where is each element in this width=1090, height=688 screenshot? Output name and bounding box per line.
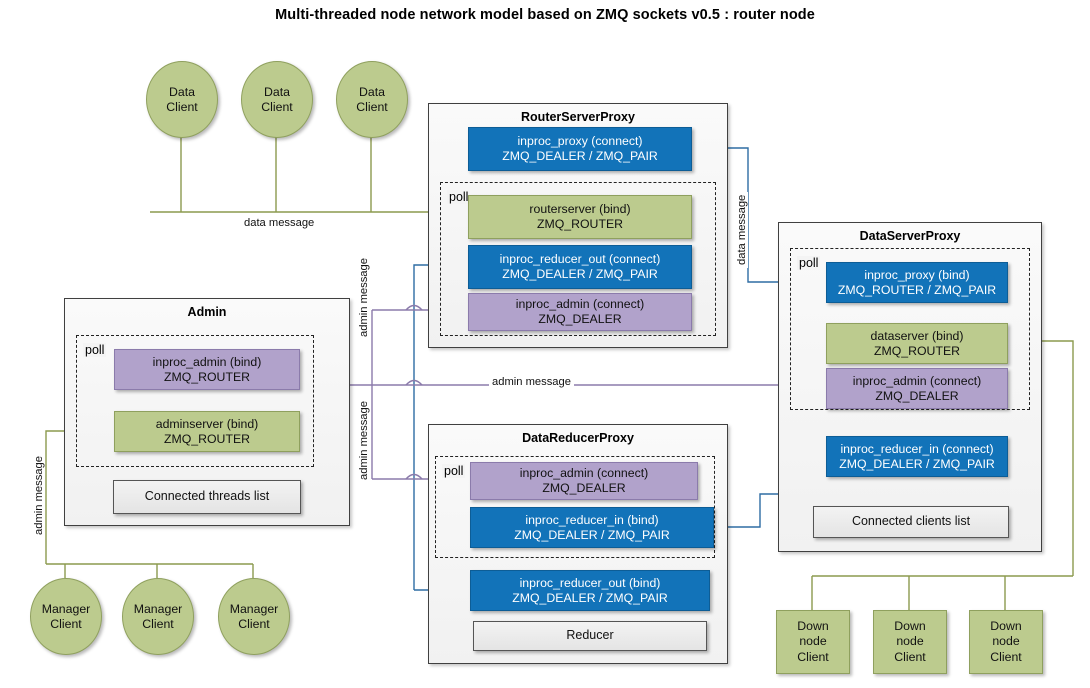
socket-rsp-inproc-admin[interactable]: inproc_admin (connect) ZMQ_DEALER	[468, 293, 692, 331]
socket-line1: inproc_reducer_out (connect)	[500, 252, 661, 267]
listbox-reducer[interactable]: Reducer	[473, 621, 707, 651]
diagram-canvas: Multi-threaded node network model based …	[0, 0, 1090, 688]
socket-admin-adminserver[interactable]: adminserver (bind) ZMQ_ROUTER	[114, 411, 300, 452]
socket-line1: inproc_admin (bind)	[153, 355, 262, 370]
node-label-line2: Client	[50, 617, 81, 632]
listbox-label: Reducer	[566, 628, 613, 643]
socket-line1: inproc_proxy (bind)	[864, 268, 969, 283]
listbox-connected-threads-list[interactable]: Connected threads list	[113, 480, 301, 514]
listbox-connected-clients-list[interactable]: Connected clients list	[813, 506, 1009, 538]
edge-label-admin-message-upper: admin message	[358, 255, 370, 340]
node-label-line2: Client	[142, 617, 173, 632]
node-label-line1: Manager	[134, 602, 183, 617]
listbox-label: Connected threads list	[145, 489, 269, 504]
node-label-line3: Client	[990, 650, 1021, 665]
node-label-line1: Manager	[230, 602, 279, 617]
socket-line2: ZMQ_DEALER / ZMQ_PAIR	[512, 591, 668, 606]
socket-line1: inproc_reducer_in (connect)	[840, 442, 993, 457]
socket-line1: inproc_proxy (connect)	[517, 134, 642, 149]
node-label-line3: Client	[797, 650, 828, 665]
node-label-line1: Data	[169, 85, 195, 100]
node-data-client-3[interactable]: Data Client	[336, 61, 408, 138]
node-label-line2: Client	[166, 100, 197, 115]
page-title: Multi-threaded node network model based …	[0, 7, 1090, 23]
node-label-line2: Client	[356, 100, 387, 115]
container-title-admin: Admin	[65, 305, 349, 319]
socket-dsp-inproc-reducer-in[interactable]: inproc_reducer_in (connect) ZMQ_DEALER /…	[826, 436, 1008, 477]
node-label-line2: node	[799, 634, 826, 649]
socket-line1: inproc_admin (connect)	[516, 297, 645, 312]
socket-line2: ZMQ_ROUTER	[164, 432, 250, 447]
socket-line1: dataserver (bind)	[871, 329, 964, 344]
socket-line2: ZMQ_ROUTER	[537, 217, 623, 232]
listbox-label: Connected clients list	[852, 514, 970, 529]
edge-label-data-message-clients: data message	[241, 217, 317, 229]
poll-label-admin: poll	[83, 343, 106, 357]
edge-label-admin-message-center: admin message	[489, 376, 574, 388]
socket-dsp-inproc-admin[interactable]: inproc_admin (connect) ZMQ_DEALER	[826, 368, 1008, 409]
node-label-line1: Down	[990, 619, 1021, 634]
container-title-data-server-proxy: DataServerProxy	[779, 229, 1041, 243]
node-label-line1: Data	[264, 85, 290, 100]
node-down-node-client-2[interactable]: Down node Client	[873, 610, 947, 674]
socket-line2: ZMQ_DEALER / ZMQ_PAIR	[514, 528, 670, 543]
poll-label-data-server-proxy: poll	[797, 256, 820, 270]
node-label-line1: Down	[797, 619, 828, 634]
container-title-data-reducer-proxy: DataReducerProxy	[429, 431, 727, 445]
socket-rsp-routerserver[interactable]: routerserver (bind) ZMQ_ROUTER	[468, 195, 692, 239]
node-data-client-1[interactable]: Data Client	[146, 61, 218, 138]
socket-line2: ZMQ_DEALER / ZMQ_PAIR	[502, 267, 658, 282]
node-label-line1: Down	[894, 619, 925, 634]
node-label-line1: Data	[359, 85, 385, 100]
socket-rsp-inproc-reducer-out[interactable]: inproc_reducer_out (connect) ZMQ_DEALER …	[468, 245, 692, 289]
socket-line1: inproc_admin (connect)	[520, 466, 649, 481]
node-down-node-client-1[interactable]: Down node Client	[776, 610, 850, 674]
node-label-line3: Client	[894, 650, 925, 665]
socket-line1: inproc_reducer_in (bind)	[525, 513, 658, 528]
socket-line2: ZMQ_ROUTER	[874, 344, 960, 359]
edge-label-admin-message-lower: admin message	[358, 398, 370, 483]
socket-drp-inproc-reducer-out[interactable]: inproc_reducer_out (bind) ZMQ_DEALER / Z…	[470, 570, 710, 611]
poll-label-data-reducer-proxy: poll	[442, 464, 465, 478]
socket-line2: ZMQ_DEALER	[538, 312, 621, 327]
node-label-line1: Manager	[42, 602, 91, 617]
edge-label-data-message-proxy: data message	[736, 192, 748, 268]
wire-data-clients-to-routerserver	[150, 136, 470, 212]
container-title-router-server-proxy: RouterServerProxy	[429, 110, 727, 124]
node-label-line2: Client	[238, 617, 269, 632]
socket-dsp-dataserver[interactable]: dataserver (bind) ZMQ_ROUTER	[826, 323, 1008, 364]
socket-line2: ZMQ_DEALER	[542, 481, 625, 496]
socket-line1: inproc_admin (connect)	[853, 374, 982, 389]
socket-line1: adminserver (bind)	[156, 417, 259, 432]
node-manager-client-1[interactable]: Manager Client	[30, 578, 102, 655]
socket-dsp-inproc-proxy[interactable]: inproc_proxy (bind) ZMQ_ROUTER / ZMQ_PAI…	[826, 262, 1008, 303]
socket-admin-inproc-admin[interactable]: inproc_admin (bind) ZMQ_ROUTER	[114, 349, 300, 390]
socket-line2: ZMQ_DEALER / ZMQ_PAIR	[839, 457, 995, 472]
socket-line2: ZMQ_ROUTER	[164, 370, 250, 385]
node-down-node-client-3[interactable]: Down node Client	[969, 610, 1043, 674]
socket-rsp-inproc-proxy[interactable]: inproc_proxy (connect) ZMQ_DEALER / ZMQ_…	[468, 127, 692, 171]
node-data-client-2[interactable]: Data Client	[241, 61, 313, 138]
node-label-line2: node	[992, 634, 1019, 649]
edge-label-admin-message-left: admin message	[33, 453, 45, 538]
socket-line2: ZMQ_ROUTER / ZMQ_PAIR	[838, 283, 996, 298]
node-label-line2: Client	[261, 100, 292, 115]
socket-line1: routerserver (bind)	[529, 202, 630, 217]
node-manager-client-3[interactable]: Manager Client	[218, 578, 290, 655]
socket-drp-inproc-reducer-in[interactable]: inproc_reducer_in (bind) ZMQ_DEALER / ZM…	[470, 507, 714, 548]
poll-label-router-server-proxy: poll	[447, 190, 470, 204]
socket-line2: ZMQ_DEALER / ZMQ_PAIR	[502, 149, 658, 164]
socket-line1: inproc_reducer_out (bind)	[520, 576, 661, 591]
node-manager-client-2[interactable]: Manager Client	[122, 578, 194, 655]
node-label-line2: node	[896, 634, 923, 649]
socket-drp-inproc-admin[interactable]: inproc_admin (connect) ZMQ_DEALER	[470, 462, 698, 500]
socket-line2: ZMQ_DEALER	[875, 389, 958, 404]
